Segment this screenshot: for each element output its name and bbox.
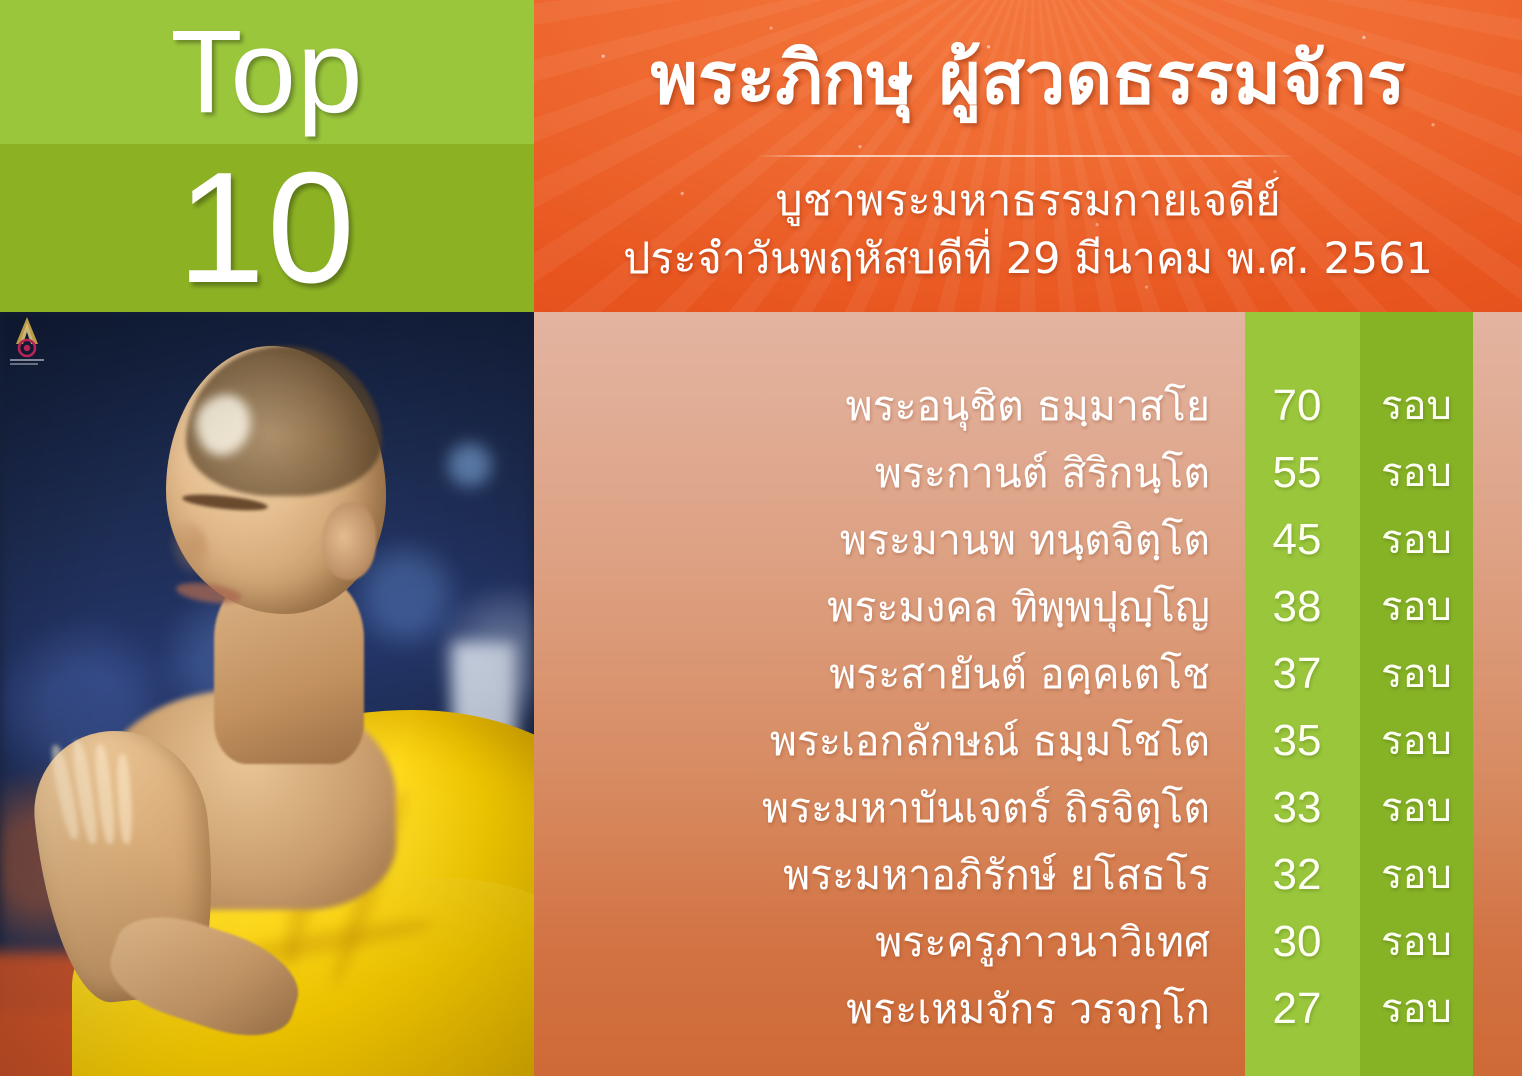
monk-name: พระกานต์ สิริกนฺโต <box>534 441 1234 505</box>
table-row: พระมานพ ทนฺตจิตฺโต45รอบ <box>534 508 1522 572</box>
round-count: 35 <box>1234 709 1360 773</box>
monk-photo <box>0 312 534 1076</box>
monk-name: พระเอกลักษณ์ ธมฺมโชโต <box>534 709 1234 773</box>
monk-name: พระมหาอภิรักษ์ ยโสธโร <box>534 843 1234 907</box>
round-unit-label: รอบ <box>1360 374 1473 438</box>
monk-name: พระสายันต์ อคฺคเตโช <box>534 642 1234 706</box>
subtitle-line-1: บูชาพระมหาธรรมกายเจดีย์ <box>534 172 1522 230</box>
photo-vignette <box>0 312 534 1076</box>
table-row: พระครูภาวนาวิเทศ30รอบ <box>534 910 1522 974</box>
round-count: 27 <box>1234 977 1360 1041</box>
monk-name: พระเหมจักร วรจกฺโก <box>534 977 1234 1041</box>
monk-name: พระอนุชิต ธมฺมาสโย <box>534 374 1234 438</box>
ranking-rows: พระอนุชิต ธมฺมาสโย70รอบพระกานต์ สิริกนฺโ… <box>534 312 1522 1076</box>
round-count: 37 <box>1234 642 1360 706</box>
round-count: 33 <box>1234 776 1360 840</box>
header-content: พระภิกษุ ผู้สวดธรรมจักร บูชาพระมหาธรรมกา… <box>534 0 1522 312</box>
ranking-list-area: พระอนุชิต ธมฺมาสโย70รอบพระกานต์ สิริกนฺโ… <box>534 312 1522 1076</box>
poster-header: พระภิกษุ ผู้สวดธรรมจักร บูชาพระมหาธรรมกา… <box>534 0 1522 312</box>
round-unit-label: รอบ <box>1360 776 1473 840</box>
left-panel: Top 10 <box>0 0 534 1076</box>
poster-root: Top 10 <box>0 0 1522 1076</box>
rank-number: 10 <box>0 144 534 312</box>
monk-name: พระครูภาวนาวิเทศ <box>534 910 1234 974</box>
subtitle-line-2: ประจำวันพฤหัสบดีที่ 29 มีนาคม พ.ศ. 2561 <box>534 230 1522 288</box>
round-count: 32 <box>1234 843 1360 907</box>
round-unit-label: รอบ <box>1360 508 1473 572</box>
round-count: 55 <box>1234 441 1360 505</box>
round-count: 45 <box>1234 508 1360 572</box>
monk-name: พระมงคล ทิพฺพปุญฺโญ <box>534 575 1234 639</box>
round-unit-label: รอบ <box>1360 575 1473 639</box>
temple-logo-watermark-icon <box>4 314 50 370</box>
page-title: พระภิกษุ ผู้สวดธรรมจักร <box>534 36 1522 120</box>
table-row: พระเหมจักร วรจกฺโก27รอบ <box>534 977 1522 1041</box>
table-row: พระสายันต์ อคฺคเตโช37รอบ <box>534 642 1522 706</box>
monk-name: พระมหาบันเจตร์ ถิรจิตฺโต <box>534 776 1234 840</box>
rank-number-wrapper: 10 <box>0 144 534 312</box>
table-row: พระเอกลักษณ์ ธมฺมโชโต35รอบ <box>534 709 1522 773</box>
right-panel: พระภิกษุ ผู้สวดธรรมจักร บูชาพระมหาธรรมกา… <box>534 0 1522 1076</box>
monk-name: พระมานพ ทนฺตจิตฺโต <box>534 508 1234 572</box>
round-unit-label: รอบ <box>1360 910 1473 974</box>
table-row: พระมหาบันเจตร์ ถิรจิตฺโต33รอบ <box>534 776 1522 840</box>
round-count: 30 <box>1234 910 1360 974</box>
round-count: 38 <box>1234 575 1360 639</box>
round-unit-label: รอบ <box>1360 441 1473 505</box>
round-unit-label: รอบ <box>1360 709 1473 773</box>
round-count: 70 <box>1234 374 1360 438</box>
top-label: Top <box>0 8 534 136</box>
header-divider <box>756 155 1296 157</box>
round-unit-label: รอบ <box>1360 642 1473 706</box>
round-unit-label: รอบ <box>1360 977 1473 1041</box>
table-row: พระกานต์ สิริกนฺโต55รอบ <box>534 441 1522 505</box>
round-unit-label: รอบ <box>1360 843 1473 907</box>
table-row: พระมหาอภิรักษ์ ยโสธโร32รอบ <box>534 843 1522 907</box>
table-row: พระมงคล ทิพฺพปุญฺโญ38รอบ <box>534 575 1522 639</box>
table-row: พระอนุชิต ธมฺมาสโย70รอบ <box>534 374 1522 438</box>
header-subtitle: บูชาพระมหาธรรมกายเจดีย์ ประจำวันพฤหัสบดี… <box>534 172 1522 288</box>
